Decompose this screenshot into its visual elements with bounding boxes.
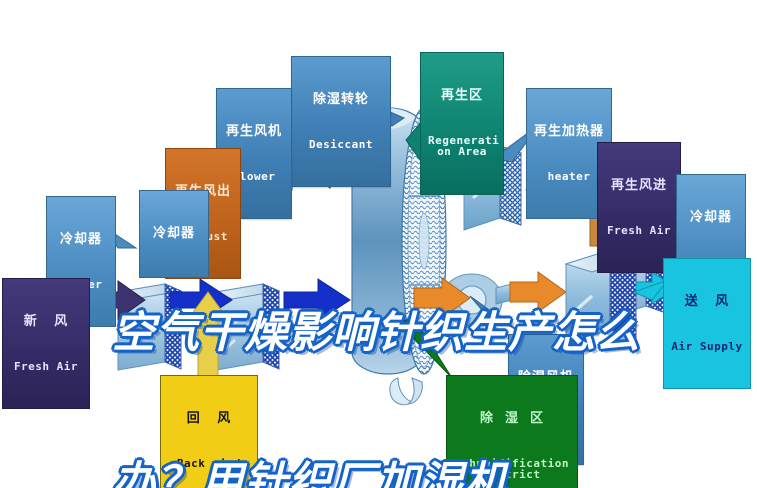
label-regeneration-area-en: Regenerati on Area xyxy=(428,135,496,157)
label-fresh-air-left-en: Fresh Air xyxy=(10,361,82,372)
label-cooler-left-1-cn: 冷却器 xyxy=(53,233,109,246)
label-desiccant: 除湿转轮 Desiccant xyxy=(291,56,391,187)
label-regeneration-area: 再生区 Regenerati on Area xyxy=(420,52,504,195)
overlay-title-line-2: 办？用针织厂加湿机 xyxy=(112,458,702,488)
diagram-canvas: xt xyxy=(0,0,757,488)
label-desiccant-cn: 除湿转轮 xyxy=(298,93,384,106)
label-fresh-air-left: 新 风 Fresh Air xyxy=(2,278,90,409)
overlay-title: 空气干燥影响针织生产怎么 办？用针织厂加湿机 xyxy=(112,208,702,488)
label-desiccant-en: Desiccant xyxy=(298,139,384,150)
label-heater-cn: 再生加热器 xyxy=(533,125,605,138)
label-fresh-air-regen-cn: 再生风进 xyxy=(605,179,673,192)
label-regeneration-area-cn: 再生区 xyxy=(428,89,496,102)
overlay-title-line-1: 空气干燥影响针织生产怎么 xyxy=(112,308,702,358)
label-fresh-air-left-cn: 新 风 xyxy=(10,315,82,328)
label-heater-en: heater xyxy=(533,171,605,182)
label-regeneration-blower-cn: 再生风机 xyxy=(223,125,285,138)
